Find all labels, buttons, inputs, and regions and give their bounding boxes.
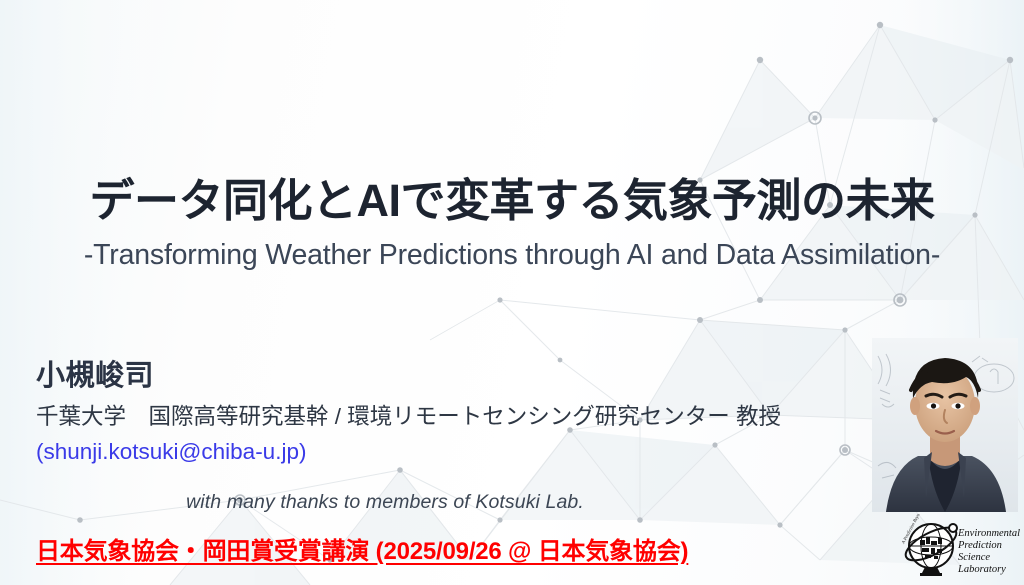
logo-line-3: Science bbox=[958, 552, 990, 563]
logo-line-2: Prediction bbox=[957, 540, 1002, 551]
logo-line-4: Laboratory bbox=[957, 564, 1006, 575]
author-name: 小槻峻司 bbox=[36, 358, 876, 394]
lab-logo: A Prediction Beyond Modeling Environment… bbox=[896, 514, 1024, 580]
author-email-link[interactable]: (shunji.kotsuki@chiba-u.jp) bbox=[36, 437, 876, 466]
author-block: 小槻峻司 千葉大学 国際高等研究基幹 / 環境リモートセンシング研究センター 教… bbox=[36, 358, 876, 466]
presentation-slide: データ同化とAIで変革する気象予測の未来 -Transforming Weath… bbox=[0, 0, 1024, 585]
page-title: データ同化とAIで変革する気象予測の未来 bbox=[0, 176, 1024, 226]
author-portrait-photo bbox=[872, 338, 1018, 512]
event-title: 日本気象協会・岡田賞受賞講演 (2025/09/26 @ 日本気象協会) bbox=[36, 531, 688, 566]
title-block: データ同化とAIで変革する気象予測の未来 -Transforming Weath… bbox=[0, 176, 1024, 272]
acknowledgement-text: with many thanks to members of Kotsuki L… bbox=[0, 491, 770, 514]
page-subtitle: -Transforming Weather Predictions throug… bbox=[0, 240, 1024, 271]
author-affiliation: 千葉大学 国際高等研究基幹 / 環境リモートセンシング研究センター 教授 bbox=[36, 402, 876, 431]
logo-line-1: Environmental bbox=[957, 528, 1020, 539]
